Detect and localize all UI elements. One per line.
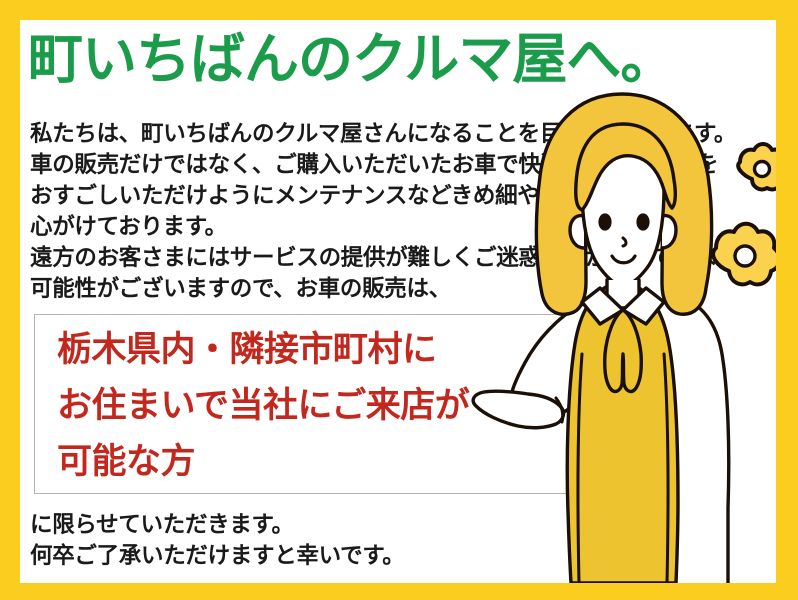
flower-icon (738, 144, 776, 189)
page-title: 町いちばんのクルマ屋へ。 (28, 23, 776, 95)
closing-line: に限らせていただきます。 (30, 509, 510, 540)
smiling-woman-presenting-illustration (470, 88, 776, 583)
closing-line: 何卒ご了承いただけますと幸いです。 (30, 540, 510, 571)
flower-icon (713, 224, 776, 285)
closing-paragraph: に限らせていただきます。 何卒ご了承いただけますと幸いです。 (30, 509, 510, 571)
advertisement-poster: 町いちばんのクルマ屋へ。 私たちは、町いちばんのクルマ屋さんになることを目指して… (0, 0, 798, 600)
white-content-panel: 町いちばんのクルマ屋へ。 私たちは、町いちばんのクルマ屋さんになることを目指して… (20, 20, 776, 583)
